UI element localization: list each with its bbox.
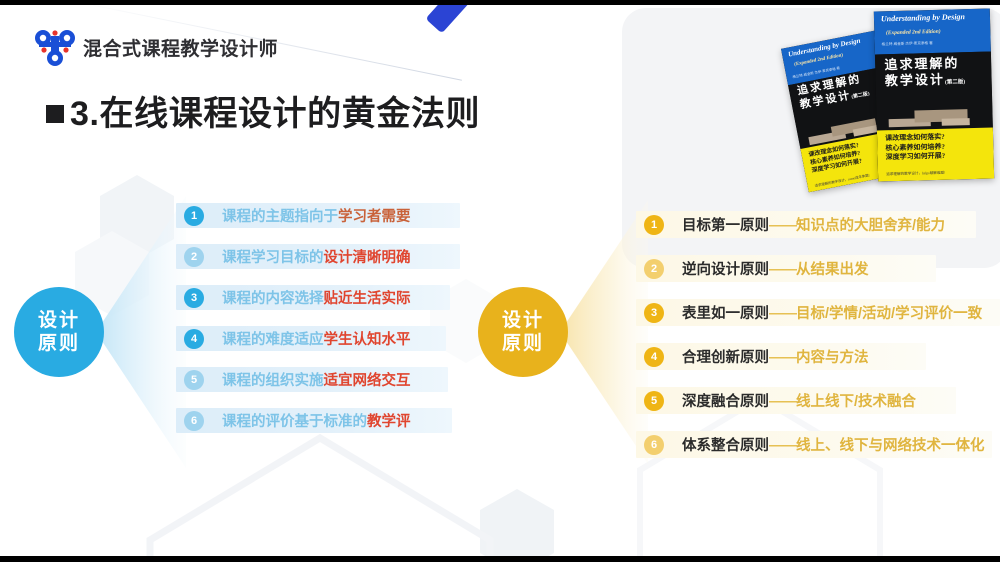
right-list-item-text: 表里如一原则——目标/学情/活动/学习评价一致 [682,302,982,323]
right-list-item-text: 深度融合原则——线上线下/技术融合 [682,390,916,411]
hub-left-line1: 设计 [38,309,80,332]
right-list-item-head: 表里如一原则 [682,306,769,322]
right-list-item-number: 4 [644,347,664,367]
right-list-item-dash: —— [769,438,796,454]
left-list-item[interactable]: 3课程的内容选择贴近生活实际 [176,285,460,310]
left-list-item-text: 课程的内容选择贴近生活实际 [222,287,411,308]
right-list-item-tail: 知识点的大胆舍弃/能力 [796,218,945,234]
left-list-item[interactable]: 6课程的评价基于标准的教学评 [176,408,460,433]
left-list-item-number: 5 [184,370,204,390]
left-list-item[interactable]: 5课程的组织实施适宜网络交互 [176,367,460,392]
right-list-item[interactable]: 6体系整合原则——线上、线下与网络技术一体化 [636,431,1000,458]
right-list-item[interactable]: 3表里如一原则——目标/学情/活动/学习评价一致 [636,299,1000,326]
left-list-item-highlight: 学生认知水平 [324,332,411,348]
page-title: 3.在线课程设计的黄金法则 [46,86,480,135]
slide-canvas: 混合式课程教学设计师 3.在线课程设计的黄金法则 Understanding b… [0,0,1000,562]
molecule-network-icon [33,28,77,66]
book-front-en-sub: (Expanded 2nd Edition) [886,27,984,36]
right-list-item-tail: 从结果出发 [796,262,869,278]
book-front-podium-illustration [888,99,981,127]
right-list-item-text: 合理创新原则——内容与方法 [682,346,869,367]
right-list-item-dash: —— [769,262,796,278]
right-list-item-dash: —— [769,218,796,234]
left-list-item-number: 6 [184,411,204,431]
right-list-item-head: 逆向设计原则 [682,262,769,278]
right-list-item-number: 2 [644,259,664,279]
right-list-item-dash: —— [769,306,796,322]
right-list-item[interactable]: 4合理创新原则——内容与方法 [636,343,1000,370]
left-list-item-prefix: 课程的主题指向于 [222,209,338,225]
fan-blue [96,196,186,468]
left-list-item-highlight: 贴近生活实际 [324,291,411,307]
right-list-item-tail: 内容与方法 [796,350,869,366]
book-front-body: 追求理解的教学设计(第二版) [875,51,993,131]
right-list-item-head: 深度融合原则 [682,394,769,410]
right-list-item-head: 体系整合原则 [682,438,769,454]
right-list-item-head: 合理创新原则 [682,350,769,366]
left-list-item-prefix: 课程的评价基于标准的 [222,414,367,430]
right-list-item-text: 体系整合原则——线上、线下与网络技术一体化 [682,434,985,455]
left-list-item-prefix: 课程的内容选择 [222,291,324,307]
left-list-item-number: 2 [184,247,204,267]
left-list-item-highlight: 教学评 [367,414,411,430]
left-list-item-prefix: 课程的难度适应 [222,332,324,348]
fan-gold [560,200,648,464]
right-list-item-number: 1 [644,215,664,235]
book-cover-front: Understanding by Design (Expanded 2nd Ed… [874,9,994,182]
right-list-item[interactable]: 2逆向设计原则——从结果出发 [636,255,1000,282]
left-list-item[interactable]: 2课程学习目标的设计清晰明确 [176,244,460,269]
hub-left-line2: 原则 [38,332,80,355]
right-list-item[interactable]: 5深度融合原则——线上线下/技术融合 [636,387,1000,414]
right-list-item-number: 6 [644,435,664,455]
left-list-item-number: 1 [184,206,204,226]
brand-title: 混合式课程教学设计师 [83,34,278,61]
title-bullet-square [46,105,64,123]
left-list-item-highlight: 学习者需要 [338,209,411,225]
right-principles-list: 1目标第一原则——知识点的大胆舍弃/能力2逆向设计原则——从结果出发3表里如一原… [636,211,1000,475]
hub-right-line2: 原则 [502,332,544,355]
left-list-item-number: 4 [184,329,204,349]
book-front-authors: 格兰特·威金斯 杰伊·麦克泰格 著 [882,40,986,48]
left-list-item-number: 3 [184,288,204,308]
right-list-item-dash: —— [769,350,796,366]
book-front-questions: 课改理念如何落实?核心素养如何培养?深度学习如何开展? [885,132,985,163]
right-list-item[interactable]: 1目标第一原则——知识点的大胆舍弃/能力 [636,211,1000,238]
left-list-item-text: 课程的组织实施适宜网络交互 [222,369,411,390]
book-front-en-title: Understanding by Design [881,12,986,24]
right-list-item-tail: 目标/学情/活动/学习评价一致 [796,306,982,322]
left-list-item[interactable]: 4课程的难度适应学生认知水平 [176,326,460,351]
page-title-text: 3.在线课程设计的黄金法则 [70,95,480,133]
left-list-item-highlight: 设计清晰明确 [324,250,411,266]
left-list-item-text: 课程的主题指向于学习者需要 [222,205,411,226]
right-list-item-dash: —— [769,394,796,410]
right-list-item-text: 逆向设计原则——从结果出发 [682,258,869,279]
letterbox-top [0,0,1000,5]
left-list-item-prefix: 课程的组织实施 [222,373,324,389]
right-list-item-tail: 线上线下/技术融合 [796,394,916,410]
right-list-item-head: 目标第一原则 [682,218,769,234]
book-front-header: Understanding by Design (Expanded 2nd Ed… [874,9,991,55]
left-list-item-highlight: 适宜网络交互 [324,373,411,389]
right-list-item-text: 目标第一原则——知识点的大胆舍弃/能力 [682,214,945,235]
left-list-item-text: 课程学习目标的设计清晰明确 [222,246,411,267]
hub-left-design-principles: 设计 原则 [14,287,104,377]
hub-right-line1: 设计 [502,309,544,332]
right-list-item-number: 3 [644,303,664,323]
left-list-item-prefix: 课程学习目标的 [222,250,324,266]
left-list-item-text: 课程的难度适应学生认知水平 [222,328,411,349]
left-list-item[interactable]: 1课程的主题指向于学习者需要 [176,203,460,228]
left-list-item-text: 课程的评价基于标准的教学评 [222,410,411,431]
letterbox-bottom [0,556,1000,562]
book-front-cn-title: 追求理解的教学设计(第二版) [884,54,982,89]
book-cover-group: Understanding by Design (Expanded 2nd Ed… [788,2,998,198]
right-list-item-number: 5 [644,391,664,411]
book-front-footer: 课改理念如何落实?核心素养如何培养?深度学习如何开展? 追求理解的教学设计，he… [877,127,994,181]
left-principles-list: 1课程的主题指向于学习者需要2课程学习目标的设计清晰明确3课程的内容选择贴近生活… [176,203,460,449]
book-front-footnote: 追求理解的教学设计，helps破解难题! [886,170,986,178]
hub-right-design-principles: 设计 原则 [478,287,568,377]
right-list-item-tail: 线上、线下与网络技术一体化 [796,438,985,454]
